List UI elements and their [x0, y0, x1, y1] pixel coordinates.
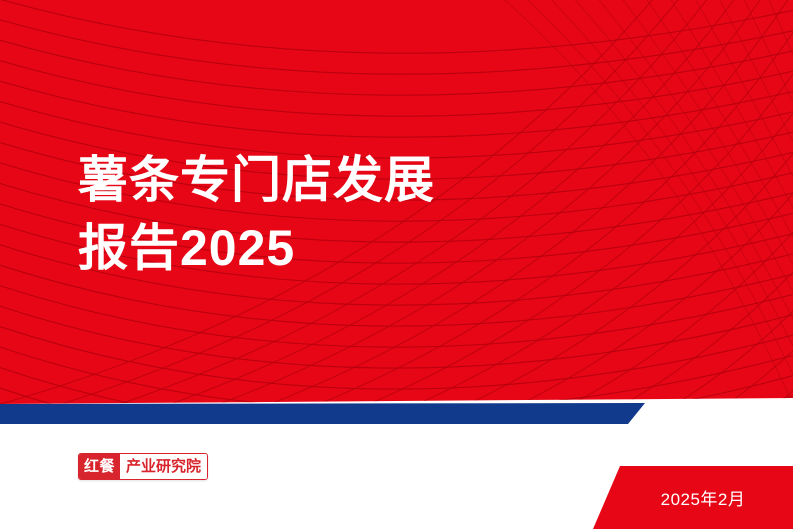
report-cover-slide: 薯条专门店发展 报告2025 红餐 产业研究院 2025年2月: [0, 0, 793, 529]
page-title: 薯条专门店发展 报告2025: [78, 146, 678, 282]
date-parallelogram: 2025年2月: [593, 466, 793, 529]
brand-logo-mark: 红餐: [79, 454, 120, 479]
brand-logo-name: 产业研究院: [120, 454, 207, 479]
publication-date: 2025年2月: [641, 485, 746, 510]
page-title-line-1: 薯条专门店发展: [78, 146, 678, 214]
blue-accent-bar: [0, 403, 645, 424]
page-title-line-2: 报告2025: [78, 214, 678, 282]
brand-logo: 红餐 产业研究院: [78, 453, 208, 480]
